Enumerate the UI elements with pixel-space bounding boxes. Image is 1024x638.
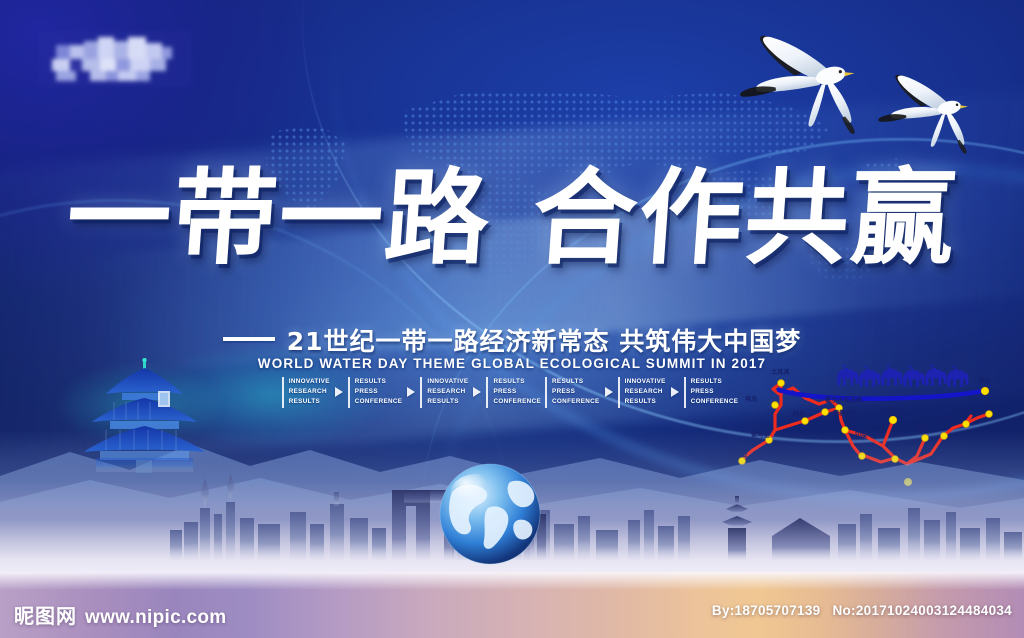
city-label: 霍尔木兹海峡 (825, 396, 863, 404)
badge-line-2: RESEARCH (427, 387, 468, 397)
badge-line-1: RESULTS (691, 377, 739, 387)
watermark-no-id: No:20171024003124484034 (832, 603, 1012, 618)
badge-item: INNOVATIVE RESEARCH RESULTS (420, 377, 468, 408)
city-label: 孟加拉 (881, 406, 900, 414)
sea-route-path (779, 390, 983, 399)
badge-line-3: CONFERENCE (493, 397, 541, 407)
poster-canvas: 一带一路 合作共赢 21世纪一带一路经济新常态 共筑伟大中国梦 WORLD WA… (0, 0, 1024, 638)
page-title: 一带一路 合作共赢 (0, 166, 1024, 270)
watermark-brand-cn: 昵图网 (14, 600, 77, 629)
city-label: 土耳其 (771, 368, 790, 376)
camel-caravan-icon (837, 364, 969, 387)
badge-line-3: CONFERENCE (691, 397, 739, 407)
blurred-logo-placeholder (38, 31, 192, 87)
badge-item: RESULTS PRESS CONFERENCE (684, 377, 739, 408)
badge-line-1: RESULTS (493, 377, 541, 387)
headline-part-one: 一带一路 (63, 166, 494, 270)
badge-line-2: PRESS (691, 387, 739, 397)
footer-top-softener (0, 572, 1024, 590)
subtitle-dash (223, 337, 275, 341)
badge-item: INNOVATIVE RESEARCH RESULTS (282, 377, 330, 408)
badge-line-3: RESULTS (427, 397, 468, 407)
badge-line-3: RESULTS (625, 397, 666, 407)
triangle-right-icon (671, 387, 679, 397)
watermark-ids: By:18705707139 No:20171024003124484034 (712, 603, 1012, 618)
badge-line-2: RESEARCH (625, 387, 666, 397)
city-label: 西安 (979, 377, 991, 385)
badge-arrow-separator (335, 377, 343, 408)
badge-item: RESULTS PRESS CONFERENCE (486, 377, 541, 408)
badge-arrow-separator (473, 377, 481, 408)
badge-arrow-separator (407, 377, 415, 408)
seagull-left (734, 27, 861, 146)
triangle-right-icon (473, 387, 481, 397)
city-label: 埃及 (745, 395, 758, 403)
city-label: 泉州 (982, 401, 995, 409)
triangle-right-icon (605, 387, 613, 397)
triangle-right-icon (407, 387, 415, 397)
city-label: 阿曼 (793, 410, 806, 418)
badge-line-2: PRESS (552, 387, 600, 397)
badge-item: RESULTS PRESS CONFERENCE (348, 377, 403, 408)
badge-line-2: PRESS (355, 387, 403, 397)
badge-arrow-separator (671, 377, 679, 408)
badge-line-3: CONFERENCE (355, 397, 403, 407)
seagull-right (875, 70, 971, 160)
badge-line-2: PRESS (493, 387, 541, 397)
watermark-brand-url: www.nipic.com (85, 607, 227, 629)
badge-item: RESULTS PRESS CONFERENCE (545, 377, 600, 408)
badge-line-1: INNOVATIVE (427, 377, 468, 387)
badge-line-2: RESEARCH (289, 387, 330, 397)
badge-line-1: RESULTS (552, 377, 600, 387)
triangle-right-icon (335, 387, 343, 397)
watermark-brand: 昵图网 www.nipic.com (14, 600, 227, 629)
globe-graphic (432, 462, 552, 570)
subtitle-chinese-text: 21世纪一带一路经济新常态 共筑伟大中国梦 (287, 327, 802, 356)
badge-line-3: CONFERENCE (552, 397, 600, 407)
subtitle-chinese: 21世纪一带一路经济新常态 共筑伟大中国梦 (0, 322, 1024, 358)
badge-line-1: RESULTS (355, 377, 403, 387)
badge-arrow-separator (605, 377, 613, 408)
city-label: 广州 (959, 408, 971, 416)
seagulls-group (700, 22, 1020, 162)
badge-line-1: INNOVATIVE (625, 377, 666, 387)
badge-line-1: INNOVATIVE (289, 377, 330, 387)
watermark-by-id: By:18705707139 (712, 603, 821, 618)
city-label: 巴基斯坦 (833, 409, 859, 417)
badge-item: INNOVATIVE RESEARCH RESULTS (618, 377, 666, 408)
badge-line-3: RESULTS (289, 397, 330, 407)
headline-part-two: 合作共赢 (530, 166, 961, 270)
